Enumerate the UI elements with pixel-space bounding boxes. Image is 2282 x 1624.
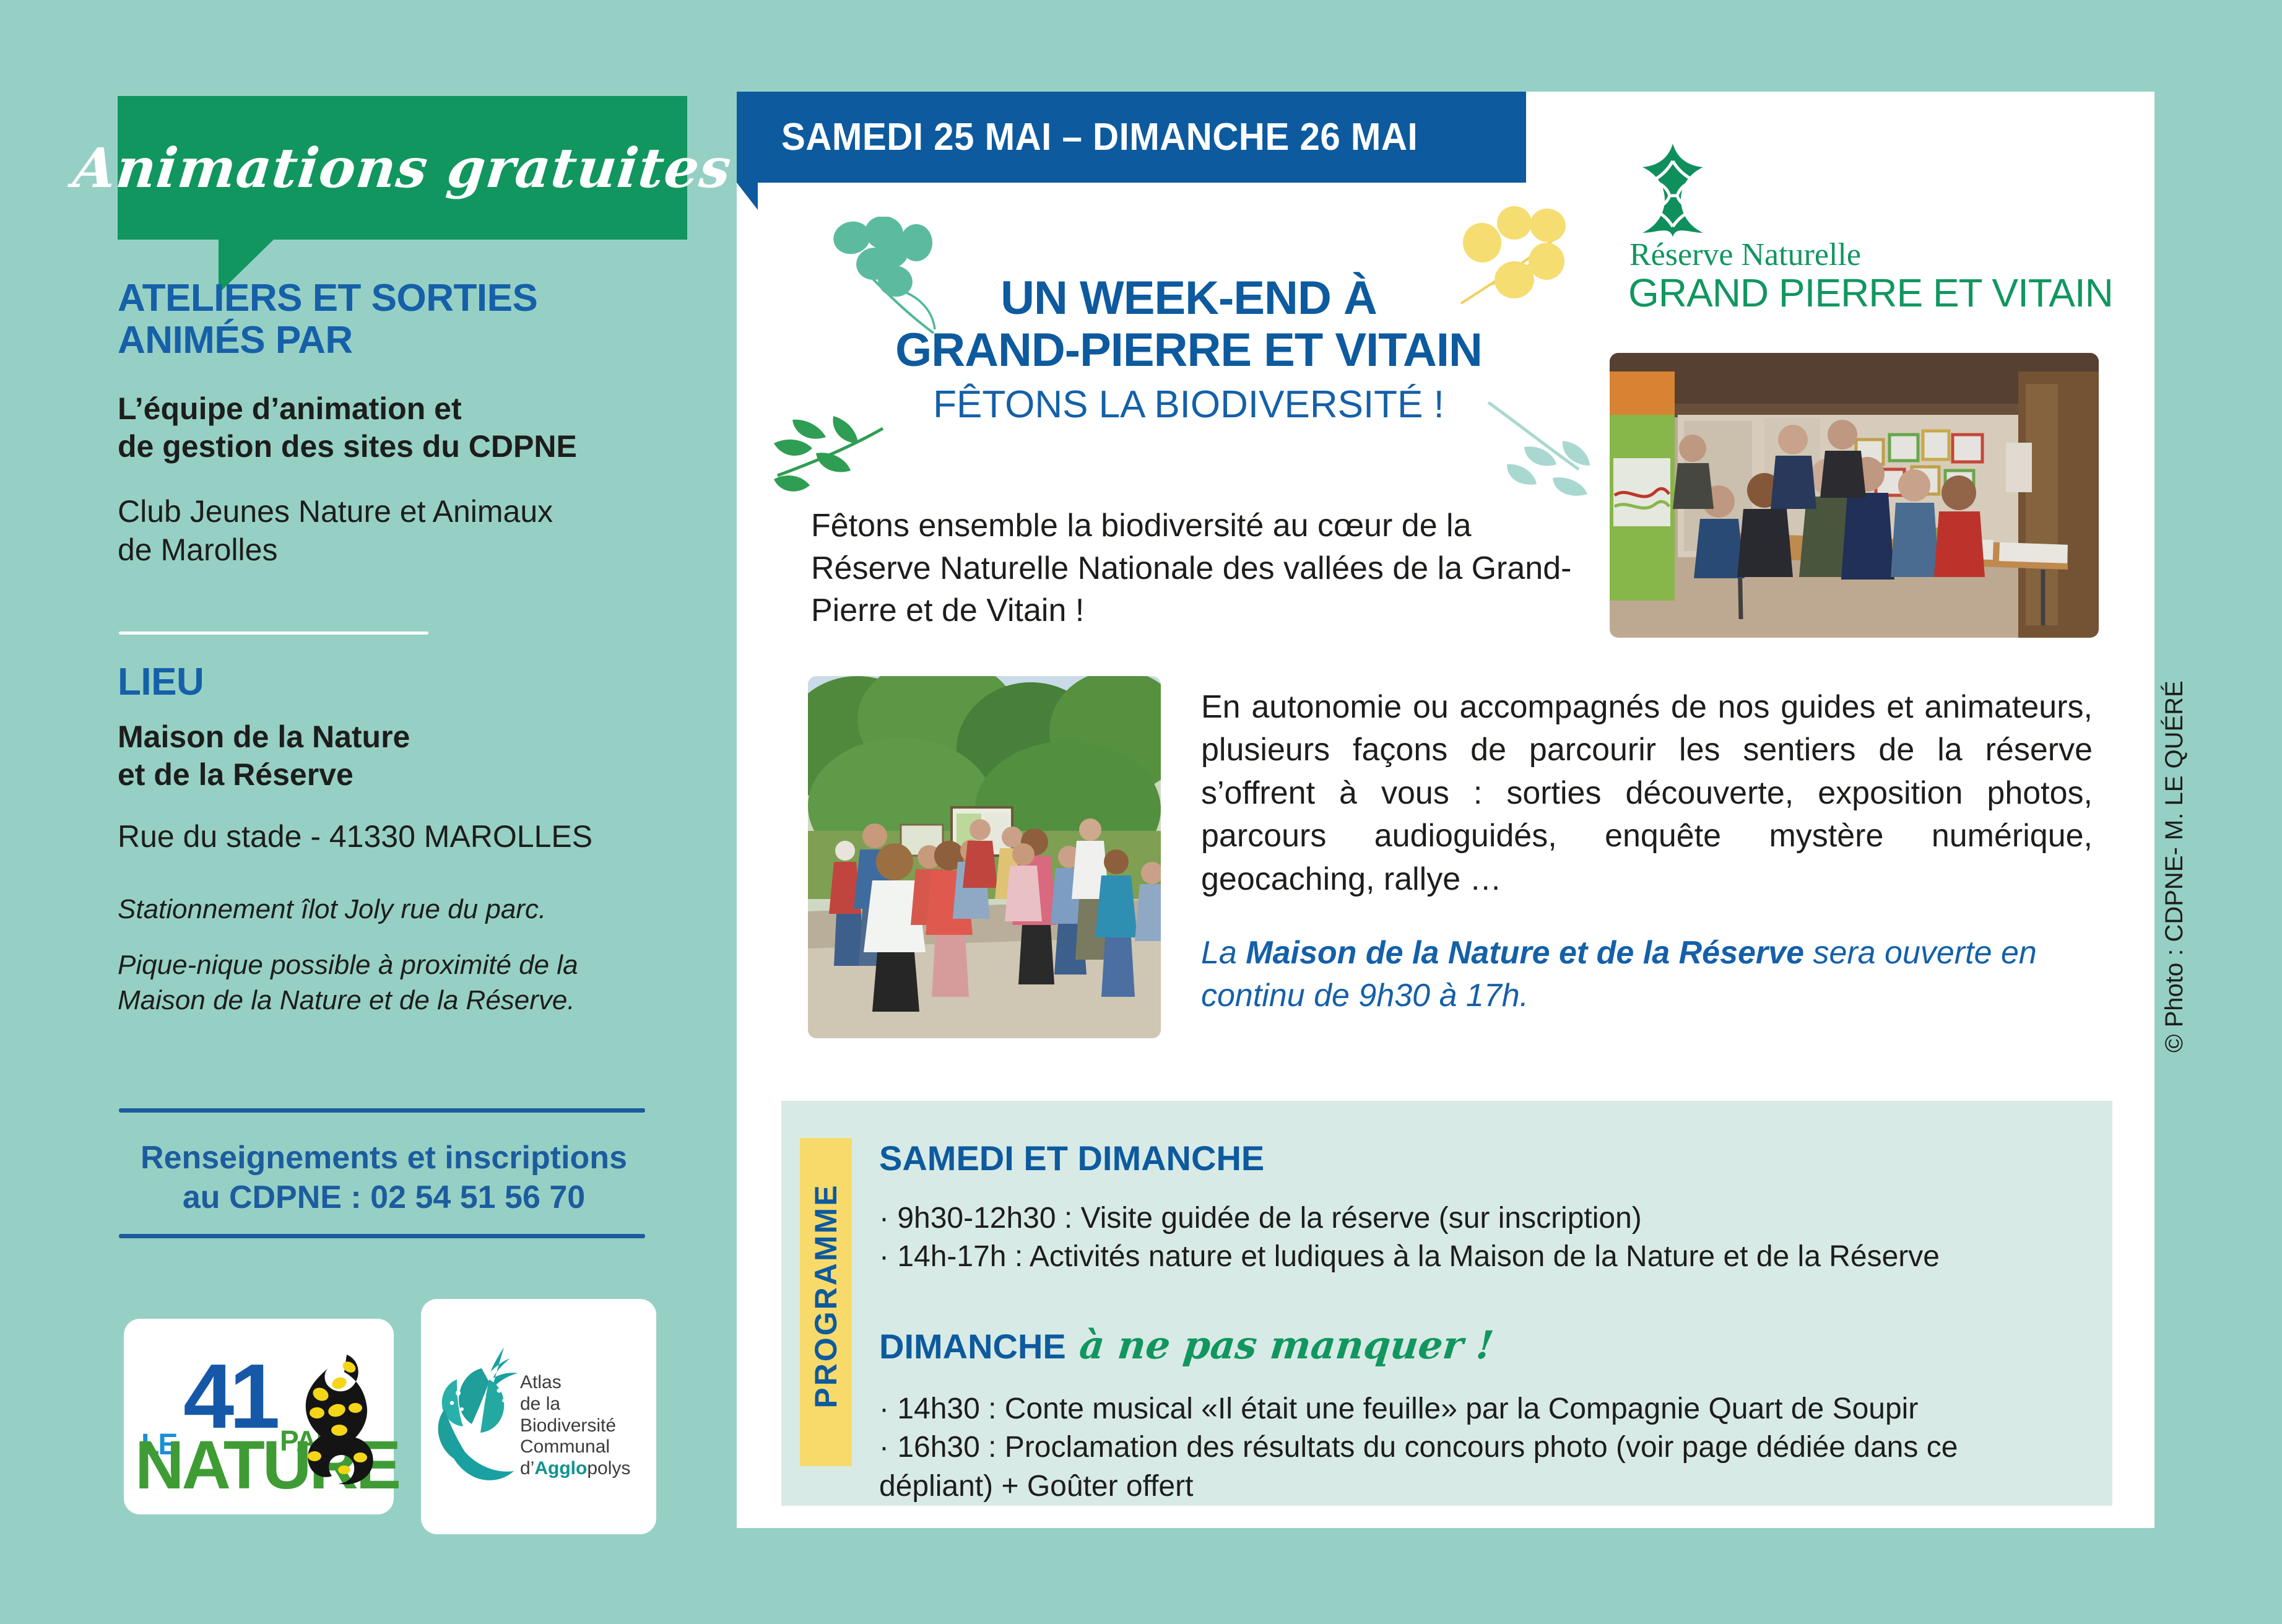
reserve-logo-line1: Réserve Naturelle [1629,237,1861,273]
atlas-line1: Atlas [520,1372,656,1394]
atlas-line4-bold: Agglo [534,1458,587,1479]
programme-heading-dimanche-label: DIMANCHE [879,1327,1066,1366]
date-banner-tail-icon [737,183,758,210]
team-bold-text: L’équipe d’animation et de gestion des s… [118,390,675,466]
programme-heading-samedi-dimanche: SAMEDI ET DIMANCHE [879,1138,2068,1178]
logo-41-par-nature: LE 41 PAR NATURE [124,1319,394,1514]
reserve-naturelle-mark-icon [1631,142,1715,238]
note-picnic: Pique-nique possible à proximité de la M… [118,947,675,1018]
programme-item: · 16h30 : Proclamation des résultats du … [879,1428,2068,1506]
reserve-logo-line2: GRAND PIERRE ET VITAIN [1628,270,2113,316]
programme-list-2: · 14h30 : Conte musical «Il était une fe… [879,1390,2068,1506]
programme-content: SAMEDI ET DIMANCHE · 9h30-12h30 : Visite… [879,1138,2068,1506]
venue-name: Maison de la Nature et de la Réserve [118,718,675,794]
programme-side-strip: PROGRAMME [800,1138,852,1466]
photo-outdoor-guided-visit [808,676,1161,1038]
heading-ateliers-sorties: ATELIERS ET SORTIES ANIMÉS PAR [118,277,675,362]
photo-credit: © Photo : CDPNE- M. LE QUÉRÉ [2161,680,2189,1053]
paragraph-intro: Fêtons ensemble la biodiversité au cœur … [811,505,1573,632]
programme-item: · 14h-17h : Activités nature et ludiques… [879,1238,2068,1276]
date-banner-label: SAMEDI 25 MAI – DIMANCHE 26 MAI [781,115,1418,159]
note-parking: Stationnement îlot Joly rue du parc. [118,892,675,927]
bubble-label: Animations gratuites [110,96,695,240]
paragraph-activities: En autonomie ou accompagnés de nos guide… [1201,686,2093,901]
opening-bold: Maison de la Nature et de la Réserve [1246,935,1804,971]
title-line-2: GRAND-PIERRE ET VITAIN [823,324,1554,376]
paragraph-opening-hours: La Maison de la Nature et de la Réserve … [1201,932,2093,1017]
programme-item: · 14h30 : Conte musical «Il était une fe… [879,1390,2068,1428]
opening-pre: La [1201,935,1246,971]
left-sidebar: Animations gratuites ATELIERS ET SORTIES… [0,0,700,1624]
programme-item: · 9h30-12h30 : Visite guidée de la réser… [879,1199,2068,1238]
atlas-line3: Communal [520,1436,656,1458]
contact-info: Renseignements et inscriptions au CDPNE … [118,1138,650,1218]
atlas-logo-text: Atlas de la Biodiversité Communal d’Aggl… [520,1372,656,1480]
title-subtitle: FÊTONS LA BIODIVERSITÉ ! [823,382,1554,427]
divider-blue-bottom [119,1234,645,1238]
divider-white [119,632,428,635]
salamander-icon [280,1348,385,1491]
team-light-text: Club Jeunes Nature et Animaux de Marolle… [118,492,675,569]
venue-address: Rue du stade - 41330 MAROLLES [118,817,675,856]
atlas-leaf-bird-icon [430,1336,529,1491]
date-banner: SAMEDI 25 MAI – DIMANCHE 26 MAI [737,92,1526,183]
atlas-line4-prefix: d’ [520,1458,534,1479]
heading-lieu: LIEU [118,661,204,703]
animations-gratuites-bubble: Animations gratuites [118,96,687,240]
atlas-line2: de la Biodiversité [520,1394,656,1437]
atlas-line4: d’Agglopolys [520,1458,656,1480]
atlas-line4-suffix: polys [587,1458,630,1479]
logo-atlas-biodiversite: Atlas de la Biodiversité Communal d’Aggl… [421,1299,656,1534]
programme-heading-dimanche: DIMANCHEà ne pas manquer ! [879,1322,2068,1368]
programme-heading-script: à ne pas manquer ! [1077,1322,1496,1368]
photo-indoor-workshop [1610,353,2099,638]
title-line-1: UN WEEK-END À [823,272,1554,324]
programme-label: PROGRAMME [808,1136,844,1456]
logo-reserve-naturelle: Réserve Naturelle GRAND PIERRE ET VITAIN [1610,142,2080,310]
event-title-block: UN WEEK-END À GRAND-PIERRE ET VITAIN FÊT… [823,272,1554,427]
programme-list-1: · 9h30-12h30 : Visite guidée de la réser… [879,1199,2068,1277]
divider-blue-top [119,1108,645,1113]
